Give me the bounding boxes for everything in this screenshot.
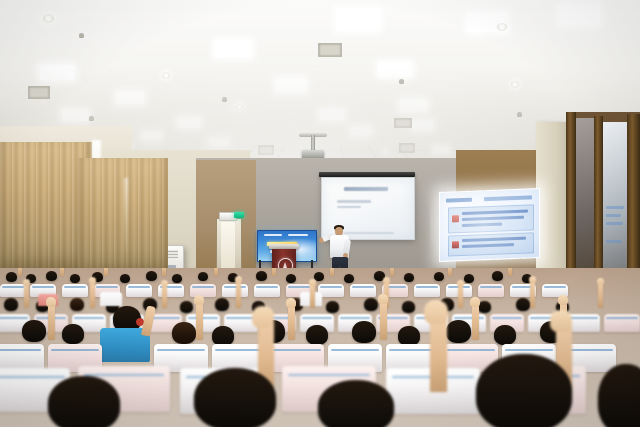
audience-hand	[529, 276, 536, 283]
reflection-text-bar	[606, 240, 622, 243]
audience-raised-arm	[448, 268, 452, 276]
audience-head	[4, 298, 18, 311]
audience-head	[215, 298, 229, 311]
audience-raised-arm	[214, 268, 218, 276]
audience-hand	[383, 277, 390, 284]
audience-raised-arm	[18, 268, 22, 276]
audience-hand	[252, 306, 274, 328]
audience-head	[256, 271, 267, 281]
slide-text-bar	[462, 210, 528, 216]
audience-raised-arm	[272, 268, 276, 276]
audience-raised-arm	[24, 284, 29, 308]
audience-head	[180, 301, 193, 313]
audience-head	[46, 271, 57, 281]
audience-raised-arm	[330, 268, 334, 276]
audience-raised-arm	[288, 305, 295, 340]
audience-head	[318, 380, 394, 427]
audience-seat	[254, 284, 280, 297]
slide-content-block-one	[448, 204, 534, 233]
audience-hand	[424, 300, 448, 324]
audience-head	[434, 272, 444, 281]
audience-head	[344, 274, 354, 283]
audience-head	[146, 271, 157, 281]
audience-head	[364, 298, 378, 311]
audience-head	[326, 301, 339, 313]
audience-head	[404, 273, 414, 282]
audience-raised-arm	[48, 304, 55, 340]
audience-head	[492, 271, 503, 281]
slide-text-bar	[462, 243, 514, 248]
audience-head	[70, 274, 80, 283]
audience-seat	[222, 284, 248, 297]
reflection-text-bar	[606, 214, 621, 217]
curtain-left-near	[78, 158, 168, 274]
audience-head	[402, 301, 415, 313]
audience-hand	[23, 279, 30, 286]
audience-raised-arm	[60, 268, 64, 276]
audience-head	[464, 274, 474, 283]
audience-hand	[194, 295, 204, 305]
audience-hand	[309, 279, 316, 286]
audience-seat	[62, 284, 88, 297]
audience-raised-arm	[104, 268, 108, 276]
audience-seat	[414, 284, 440, 297]
audience-head	[172, 274, 182, 283]
audience-raised-arm	[390, 268, 394, 276]
audience-head	[446, 320, 471, 343]
audience-hand	[558, 295, 568, 305]
banner-top-text	[288, 234, 308, 236]
audience-hand	[597, 278, 604, 285]
audience-seat	[478, 284, 504, 297]
reflection-text-bar	[606, 222, 623, 225]
audience-raised-arm	[310, 284, 315, 308]
audience-head	[194, 368, 276, 427]
audience-hand	[470, 297, 480, 307]
audience-raised-arm	[598, 283, 603, 308]
audience-raised-arm	[472, 304, 479, 340]
audience-head	[120, 274, 130, 283]
audience-raised-arm	[162, 285, 167, 308]
slide-content-block-two	[448, 232, 534, 256]
audience-hand	[89, 277, 96, 284]
audience-raised-arm	[196, 302, 203, 340]
slide-text-bar	[462, 216, 524, 221]
audience-seat	[190, 284, 216, 297]
slide-title-bar	[344, 187, 388, 191]
audience-head	[286, 274, 296, 283]
slide-icon-one	[452, 215, 459, 222]
column-right	[536, 122, 568, 292]
exit-sign-icon	[234, 212, 244, 218]
audience-hand	[235, 276, 242, 283]
audience-raised-arm	[430, 316, 447, 392]
audience-head	[306, 325, 328, 345]
audience-hand	[46, 297, 56, 307]
audience-seat	[604, 314, 640, 332]
audience-seat	[126, 284, 152, 297]
reflection-text-bar	[606, 206, 624, 209]
curtain-highlight	[124, 178, 128, 256]
audience-head	[62, 324, 84, 344]
audience-raised-arm	[162, 268, 166, 276]
audience-head	[516, 298, 530, 311]
audience-raised-arm	[236, 281, 241, 308]
audience-shirt	[100, 292, 122, 306]
slide-text-bar	[462, 237, 526, 242]
audience-hand	[161, 280, 168, 287]
audience-seat	[350, 284, 376, 297]
slide-text-line	[337, 200, 371, 203]
audience-head	[212, 326, 234, 346]
audience-raised-arm	[530, 281, 535, 308]
audience-raised-arm	[380, 301, 387, 340]
slide-header-bar	[446, 198, 472, 203]
audience-hand	[286, 298, 296, 308]
audience-head	[6, 272, 17, 282]
audience-head	[494, 325, 516, 345]
audience-seat	[0, 284, 26, 297]
audience-head	[22, 320, 46, 342]
audience-head	[48, 376, 120, 427]
audience-head	[70, 298, 84, 311]
secondary-projection-slide	[439, 188, 540, 262]
audience-raised-arm	[458, 285, 463, 308]
lecture-hall-photo: University lecture hall assembly Wide ph…	[0, 0, 640, 427]
audience-hand	[457, 280, 464, 287]
audience-head	[398, 326, 420, 346]
audience-head	[476, 354, 572, 427]
audience-head	[172, 322, 196, 344]
audience-raised-arm	[508, 268, 512, 276]
audience-head	[198, 272, 208, 281]
audience-raised-arm	[90, 282, 95, 308]
slide-text-bar	[462, 223, 502, 228]
banner-top-text	[264, 234, 282, 236]
audience-hand	[550, 310, 572, 332]
slide-icon-two	[452, 241, 459, 248]
audience	[0, 268, 640, 427]
audience-hand	[378, 294, 388, 304]
slide-header-bar	[484, 195, 532, 201]
slide-text-line	[337, 206, 361, 208]
audience-head	[352, 321, 376, 343]
